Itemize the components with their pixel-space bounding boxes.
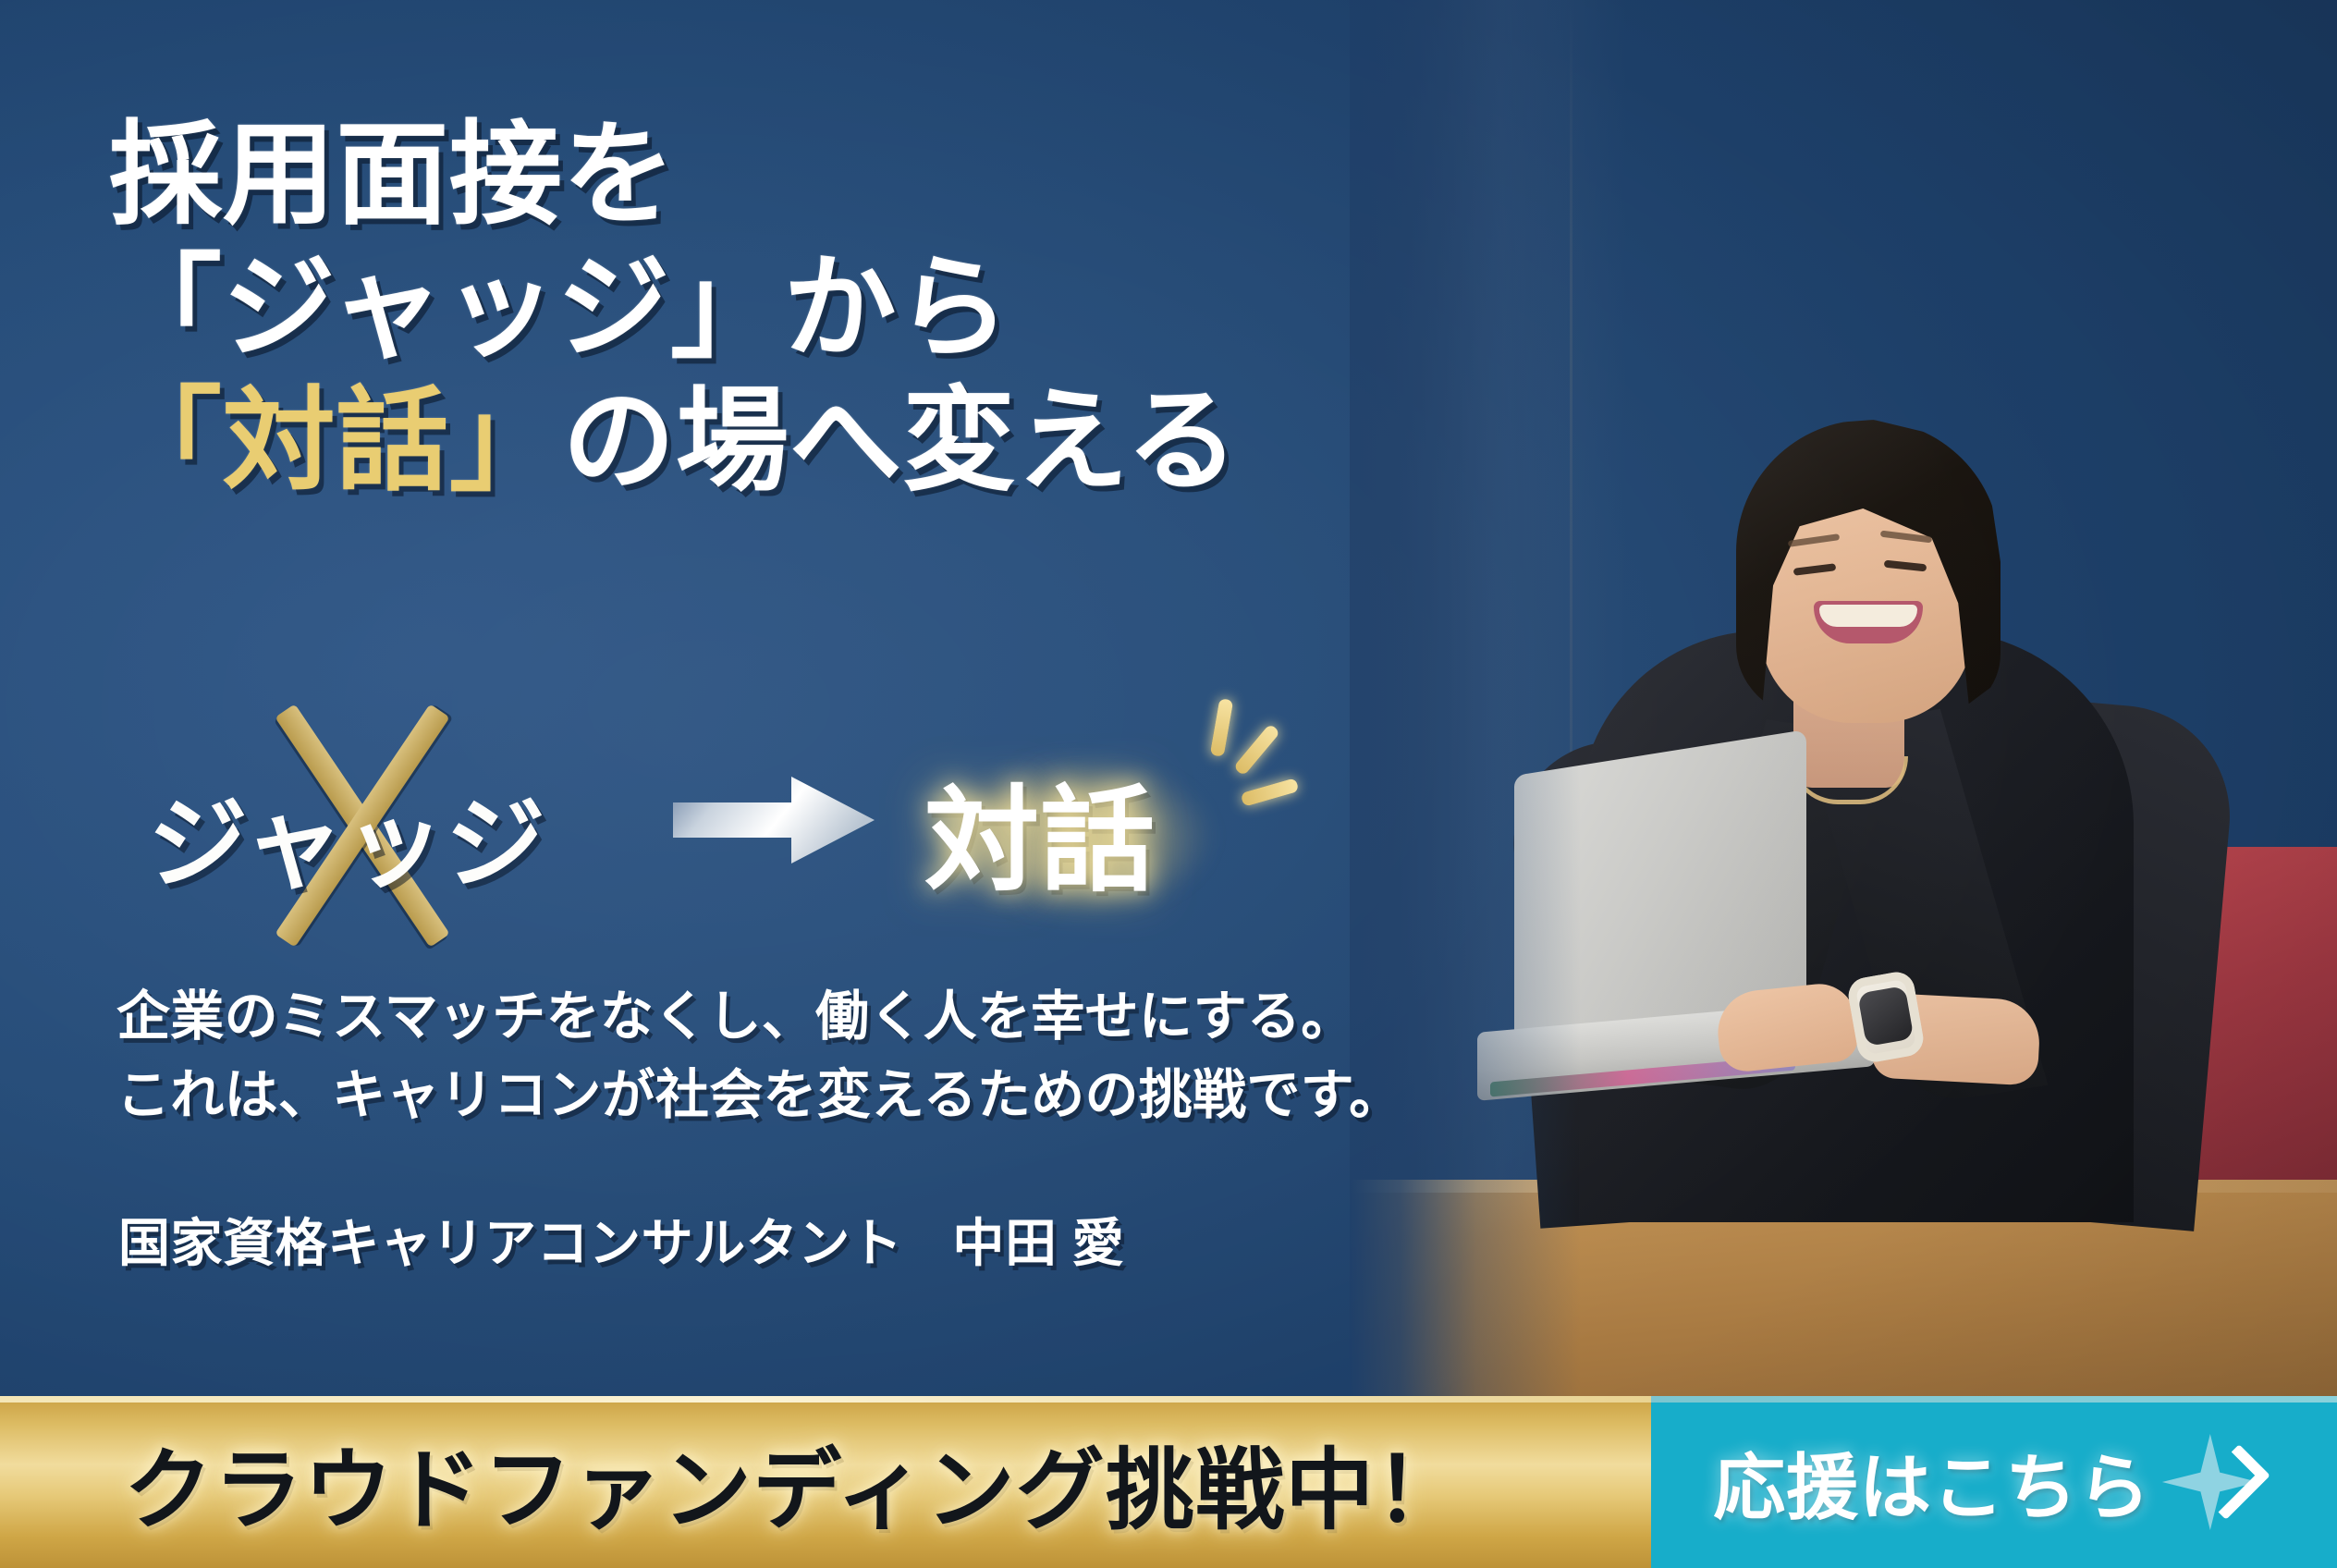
promo-banner: 採用面接を 「ジャッジ」から 「対話」の場へ変える ジャッジ	[0, 0, 2337, 1568]
credit-name: 中田 愛	[952, 1214, 1124, 1272]
cta-label: 応援はこちら	[1713, 1430, 2151, 1534]
headline: 採用面接を 「ジャッジ」から 「対話」の場へ変える	[109, 109, 1422, 508]
headline-line-3-rest: の場へ変える	[562, 378, 1239, 504]
headline-block: 採用面接を 「ジャッジ」から 「対話」の場へ変える	[109, 109, 1422, 508]
campaign-banner: クラウドファンディング挑戦中！	[0, 1396, 1651, 1568]
after-state: 対話	[924, 703, 1313, 934]
headline-gold-keyword: 「対話」	[109, 378, 562, 504]
body-copy: 企業のミスマッチをなくし、働く人を幸せにする。 これは、キャリコンが社会を変える…	[116, 978, 1503, 1134]
bottom-bar: クラウドファンディング挑戦中！ 応援はこちら	[0, 1396, 2337, 1568]
sparkle-lines-icon	[1183, 697, 1313, 808]
right-arrow-icon	[673, 769, 875, 871]
support-cta-button[interactable]: 応援はこちら	[1651, 1396, 2337, 1568]
headline-line-3: 「対話」の場へ変える	[109, 375, 1422, 508]
sparkle-chevron-icon	[2157, 1427, 2275, 1537]
before-state: ジャッジ	[148, 723, 619, 908]
presenter-credit: 国家資格キャリアコンサルタント中田 愛	[118, 1202, 1124, 1277]
campaign-text: クラウドファンディング挑戦中！	[124, 1418, 1465, 1547]
before-state-label: ジャッジ	[148, 764, 546, 908]
cta-content: 応援はこちら	[1713, 1427, 2275, 1537]
headline-line-2: 「ジャッジ」から	[109, 242, 1422, 375]
body-line-1: 企業のミスマッチをなくし、働く人を幸せにする。	[116, 978, 1503, 1057]
concept-diagram: ジャッジ 対話	[139, 684, 1340, 952]
body-line-2: これは、キャリコンが社会を変えるための挑戦です。	[116, 1057, 1503, 1135]
after-state-label: 対話	[924, 747, 1156, 913]
credit-qualification: 国家資格キャリアコンサルタント	[118, 1214, 902, 1272]
headline-line-1: 採用面接を	[109, 109, 1422, 242]
